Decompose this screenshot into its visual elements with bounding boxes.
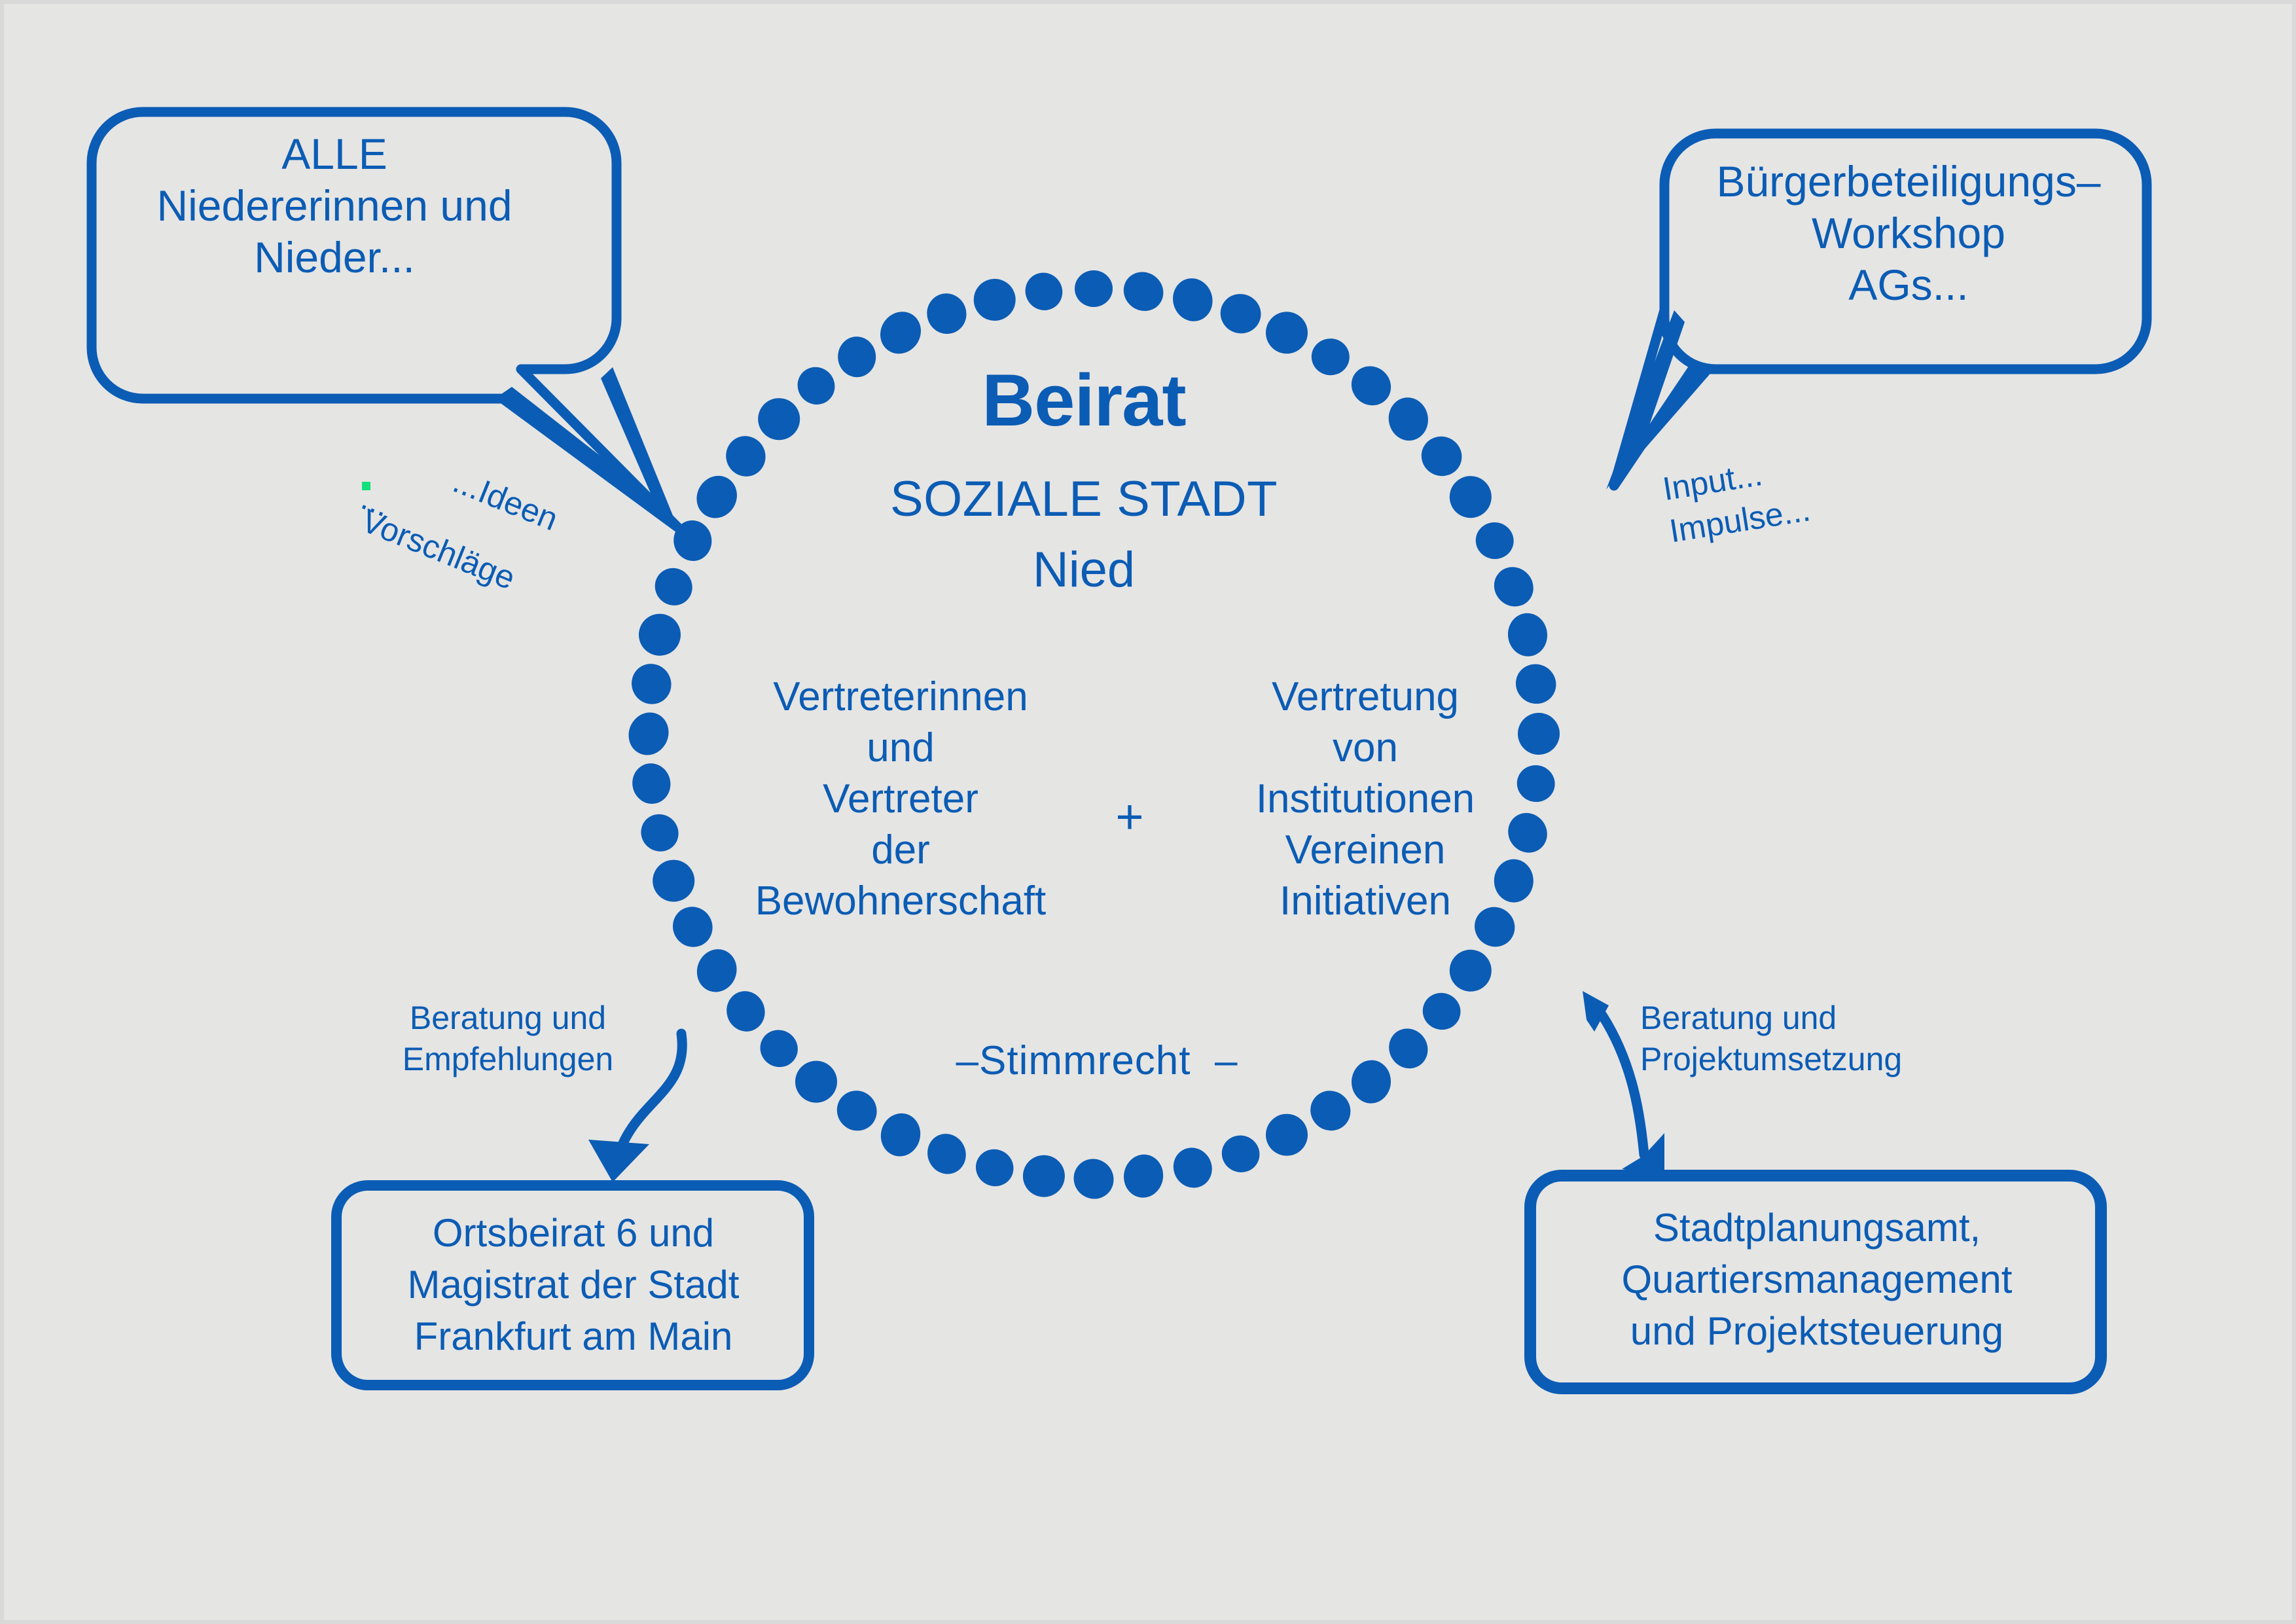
speech-bubble-right-text: Bürgerbeteiligungs– Workshop AGs... [1679,156,2138,312]
box-right-text: Stadtplanungsamt, Quartiersmanagement un… [1535,1202,2098,1358]
circle-dot [721,986,770,1037]
circle-dot [829,1083,885,1139]
beirat-subtitle-line2: Nied [789,541,1378,600]
circle-dot [665,899,720,955]
diagram-canvas: ALLE Niedererinnen und Nieder... Bürgerb… [0,0,2296,1624]
plus-sign: + [1077,788,1182,845]
circle-dot [1020,1153,1067,1199]
circle-dot [1215,288,1266,339]
circle-column-left: Vertreterinnen und Vertreter der Bewohne… [717,672,1084,928]
label-beratung-projektumsetzung: Beratung und Projektumsetzung [1640,998,1954,1080]
circle-dot [968,274,1021,327]
stimmrecht-label: –Stimmrecht – [868,1037,1326,1085]
circle-dot [1302,1083,1359,1139]
circle-dot [647,560,700,613]
arrow-left-head [588,1140,649,1182]
circle-dot [876,1109,925,1161]
circle-dot [1066,1151,1122,1207]
circle-dot [624,657,679,711]
circle-dot [922,288,972,339]
circle-dot [1258,304,1316,361]
label-beratung-empfehlungen: Beratung und Empfehlungen [370,998,645,1080]
circle-dot [1385,394,1431,444]
circle-dot [636,611,683,659]
bubble-left-line2: Niedererinnen und [96,180,573,232]
circle-dot [691,944,742,998]
circle-dot [1382,1021,1435,1076]
circle-dot [1506,611,1550,659]
circle-dot [622,706,675,762]
circle-dot [1121,1151,1166,1200]
bubble-right-line2: Workshop [1679,208,2138,259]
bubble-left-line1: ALLE [96,128,573,180]
circle-dot [1168,274,1217,326]
circle-dot [1075,270,1113,307]
circle-dot [753,1022,805,1074]
circle-dot [1018,265,1069,317]
beirat-title: Beirat [789,357,1378,444]
circle-dot [1444,945,1497,997]
circle-dot [719,429,772,482]
circle-dot [1473,519,1516,562]
circle-dot [628,759,674,807]
circle-column-right: Vertretung von Institutionen Vereinen In… [1182,672,1549,928]
speech-bubble-left-text: ALLE Niedererinnen und Nieder... [96,128,573,284]
circle-dot [872,304,929,361]
circle-dot [922,1128,973,1180]
box-left-text: Ortsbeirat 6 und Magistrat der Stadt Fra… [344,1207,802,1363]
circle-dot [969,1142,1020,1193]
circle-dot [1418,988,1466,1035]
beirat-subtitle-line1: SOZIALE STADT [789,470,1378,529]
bubble-right-line3: AGs... [1679,259,2138,311]
circle-dot [1215,1129,1265,1178]
circle-dot [652,859,696,903]
circle-dot [795,1060,838,1104]
circle-dot [1415,429,1469,482]
circle-dot [1262,1110,1312,1160]
circle-dot [1116,264,1171,319]
arrow-right-curve [1602,1015,1644,1155]
circle-dot [1443,469,1499,525]
green-marker-dot [362,482,370,490]
circle-dot [1350,1059,1392,1105]
bubble-left-line3: Nieder... [96,232,573,283]
circle-dot [689,469,744,526]
bubble-right-line1: Bürgerbeteiligungs– [1679,156,2138,208]
circle-dot [634,806,686,859]
circle-dot [1166,1141,1219,1195]
circle-dot [1486,559,1541,615]
